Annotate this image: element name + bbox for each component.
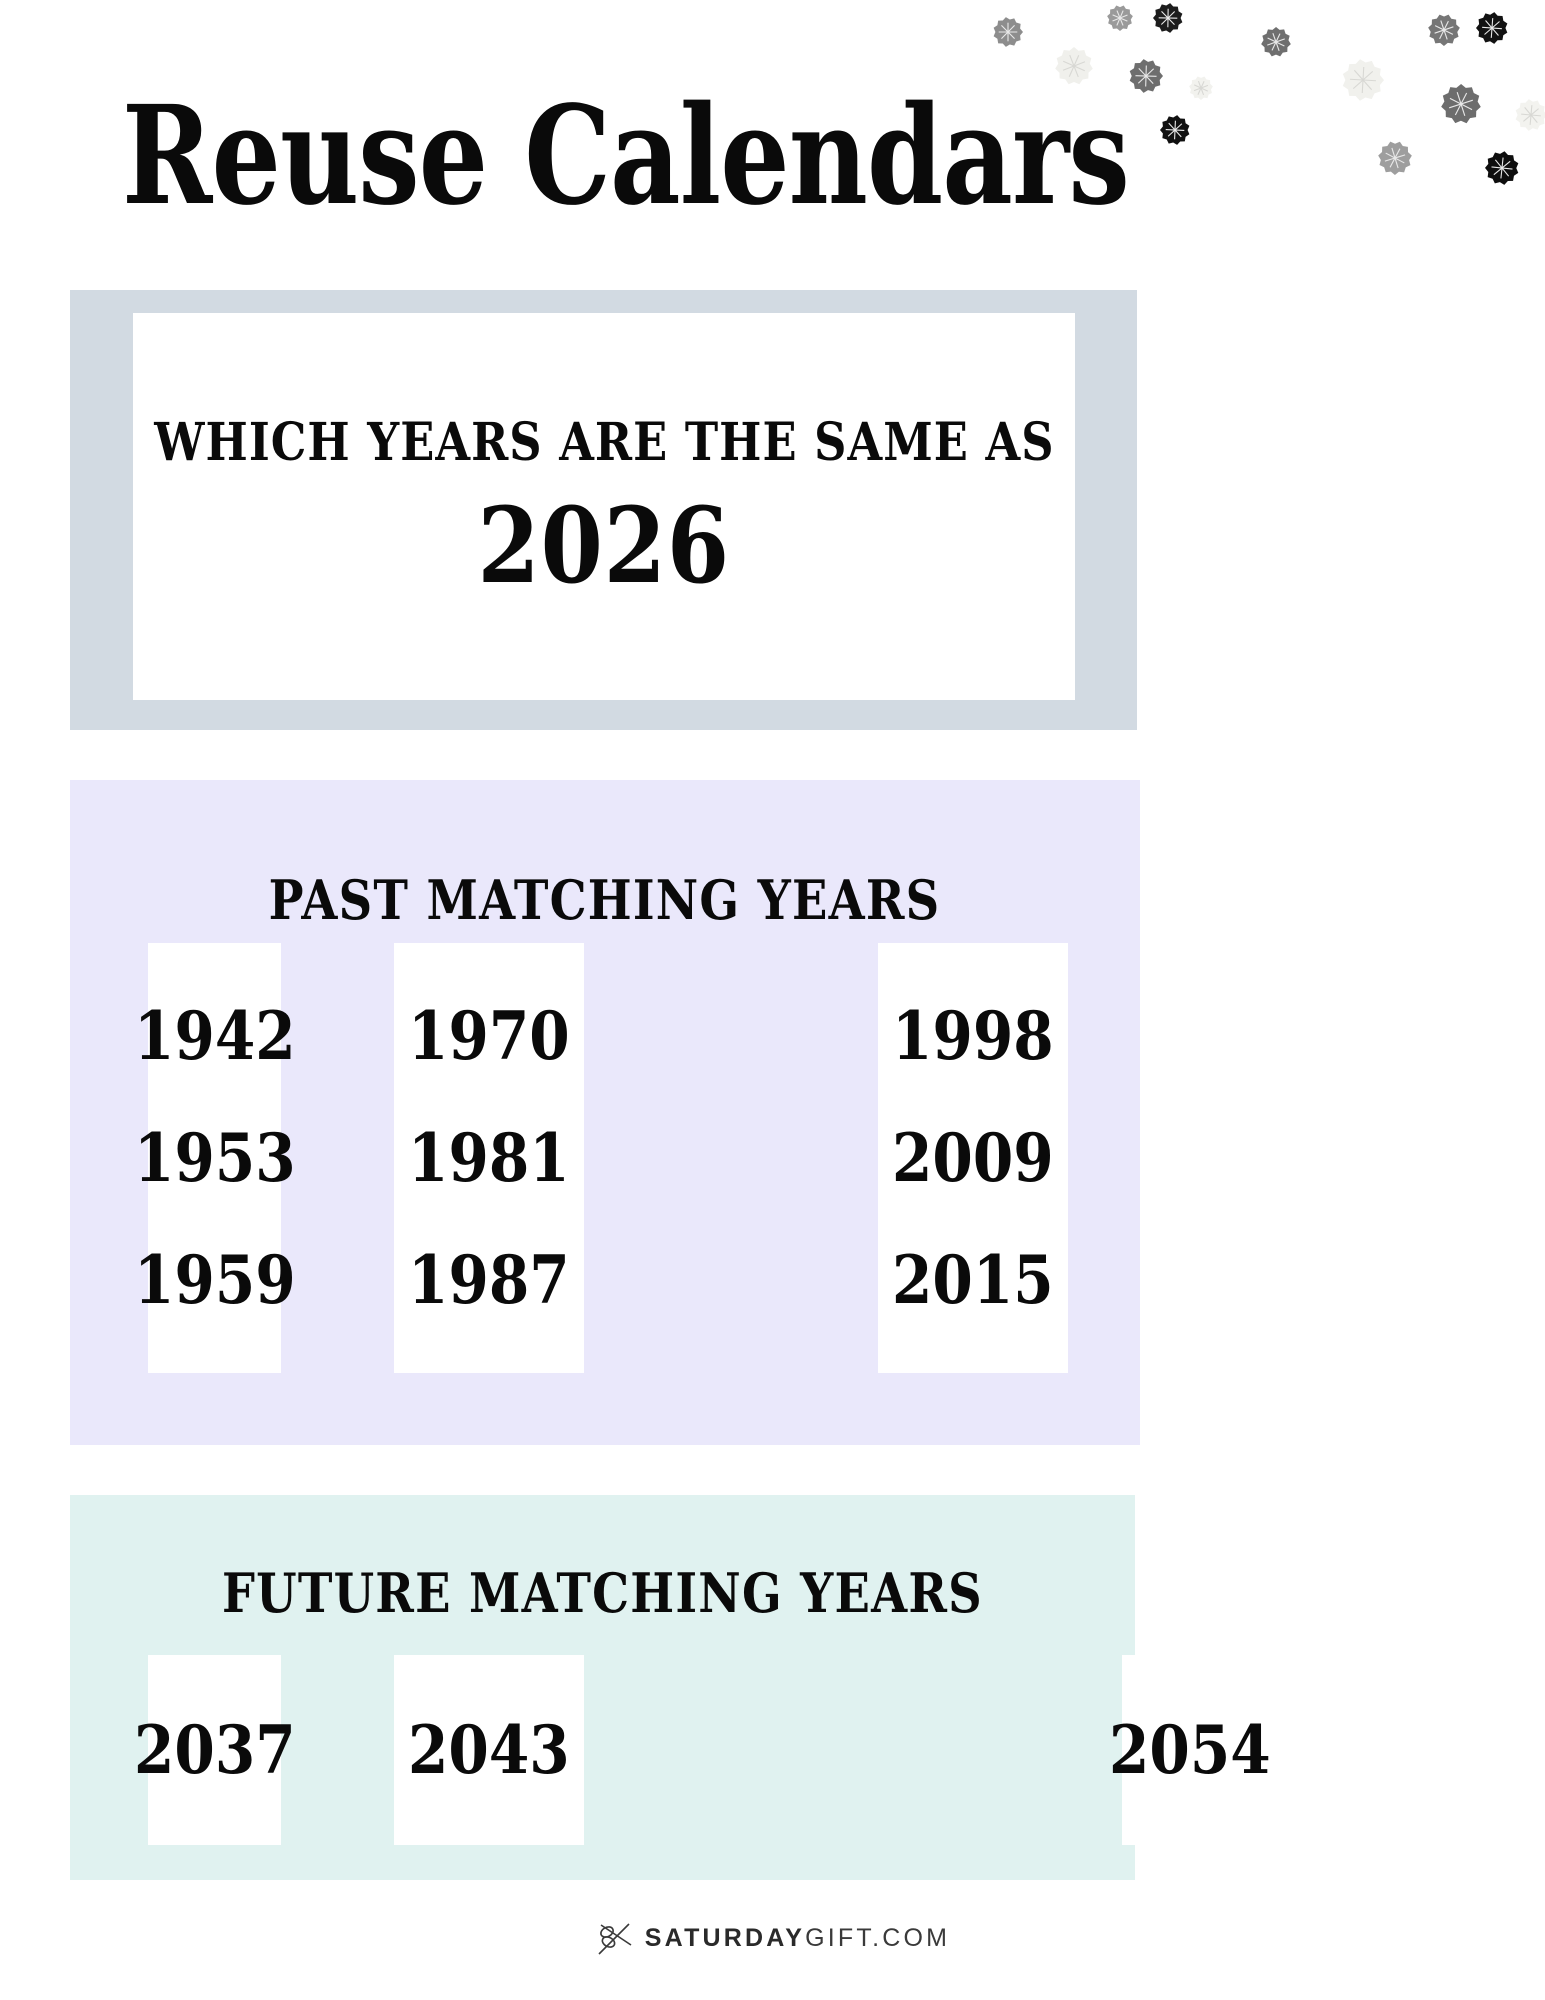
past-year-value: 1987 — [408, 1247, 570, 1313]
scissors-icon — [595, 1918, 635, 1958]
confetti-crinkle — [1146, 65, 1147, 86]
confetti-dot — [1261, 27, 1291, 56]
confetti-dot — [994, 17, 1023, 47]
confetti-crinkle — [1113, 15, 1128, 21]
brand-name: SATURDAYGIFT.COM — [645, 1924, 950, 1953]
confetti-crinkle — [1523, 109, 1538, 122]
past-year-value: 1953 — [134, 1125, 296, 1191]
confetti-crinkle — [1354, 70, 1371, 89]
confetti-crinkle — [1449, 100, 1473, 108]
confetti-dot — [1130, 59, 1163, 93]
page-title: Reuse Calendars — [122, 88, 1098, 224]
confetti-dot — [1107, 6, 1133, 31]
confetti-crinkle — [1525, 107, 1538, 122]
past-matching-years-panel: PAST MATCHING YEARS 1942 1953 1959 1970 … — [70, 780, 1140, 1445]
confetti-dot — [1485, 151, 1518, 185]
future-matching-years-panel: FUTURE MATCHING YEARS 2037 2043 2054 — [70, 1495, 1135, 1880]
confetti-crinkle — [1194, 85, 1208, 90]
confetti-crinkle — [1450, 98, 1472, 109]
confetti-crinkle — [1273, 33, 1279, 51]
confetti-crinkle — [1501, 158, 1503, 179]
confetti-crinkle — [1069, 55, 1079, 77]
confetti-dot — [1160, 115, 1189, 145]
past-section-heading: PAST MATCHING YEARS — [70, 868, 1140, 932]
footer-brand[interactable]: SATURDAYGIFT.COM — [0, 1918, 1545, 1958]
confetti-crinkle — [1386, 153, 1405, 163]
confetti-dot — [1476, 12, 1507, 44]
header-target-year: 2026 — [478, 491, 730, 600]
confetti-crinkle — [1385, 155, 1405, 161]
past-year-value: 2009 — [892, 1125, 1054, 1191]
confetti-crinkle — [1441, 21, 1447, 40]
past-year-value: 2015 — [892, 1247, 1054, 1313]
confetti-crinkle — [1482, 27, 1502, 28]
confetti-crinkle — [1139, 68, 1153, 83]
past-year-column-1: 1942 1953 1959 — [148, 943, 281, 1373]
confetti-crinkle — [1484, 22, 1499, 35]
confetti-dot — [1378, 142, 1412, 175]
past-year-value: 1959 — [134, 1247, 296, 1313]
confetti-crinkle — [1162, 11, 1175, 24]
confetti-crinkle — [1492, 167, 1513, 169]
confetti-crinkle — [1521, 114, 1541, 116]
confetti-crinkle — [1135, 76, 1156, 77]
future-year-value: 2037 — [134, 1717, 296, 1783]
past-section-heading-text: PAST MATCHING YEARS — [269, 868, 941, 932]
confetti-crinkle — [1455, 93, 1466, 115]
future-year-columns: 2037 2043 2054 — [70, 1655, 1135, 1845]
confetti-crinkle — [1457, 92, 1465, 116]
confetti-crinkle — [1001, 25, 1014, 38]
confetti-crinkle — [1175, 121, 1176, 140]
confetti-crinkle — [1113, 15, 1128, 21]
past-year-columns: 1942 1953 1959 1970 1981 1987 1998 2009 … — [70, 943, 1140, 1373]
confetti-dot — [1516, 99, 1545, 131]
confetti-crinkle — [1063, 61, 1085, 71]
confetti-dot — [1441, 84, 1481, 123]
confetti-crinkle — [1272, 34, 1280, 51]
confetti-dot — [1153, 3, 1182, 33]
confetti-dot — [1343, 59, 1384, 101]
header-band: WHICH YEARS ARE THE SAME AS 2026 — [70, 290, 1137, 730]
brand-name-light: GIFT.COM — [805, 1924, 950, 1952]
confetti-crinkle — [1392, 148, 1398, 168]
confetti-crinkle — [1440, 21, 1449, 39]
confetti-crinkle — [1198, 81, 1204, 95]
confetti-dot — [1189, 76, 1213, 100]
confetti-crinkle — [1169, 123, 1182, 137]
confetti-crinkle — [1362, 67, 1364, 93]
future-section-heading: FUTURE MATCHING YEARS — [70, 1561, 1135, 1625]
confetti-crinkle — [1168, 124, 1182, 137]
header-inner-box: WHICH YEARS ARE THE SAME AS 2026 — [133, 313, 1075, 700]
confetti-crinkle — [1491, 18, 1492, 38]
brand-name-bold: SATURDAY — [645, 1924, 805, 1952]
confetti-crinkle — [1268, 38, 1285, 46]
past-year-value: 1981 — [408, 1125, 570, 1191]
confetti-crinkle — [1166, 130, 1185, 131]
past-year-value: 1970 — [408, 1003, 570, 1069]
past-year-value: 1942 — [134, 1003, 296, 1069]
future-year-value: 2043 — [408, 1717, 570, 1783]
confetti-crinkle — [1001, 25, 1014, 38]
confetti-crinkle — [1117, 11, 1123, 26]
confetti-crinkle — [1350, 79, 1376, 81]
header-question: WHICH YEARS ARE THE SAME AS — [154, 412, 1054, 473]
confetti-crinkle — [1486, 20, 1499, 35]
confetti-crinkle — [1435, 27, 1454, 33]
poster-page: Reuse Calendars WHICH YEARS ARE THE SAME… — [0, 0, 1545, 2000]
future-year-column-1: 2037 — [148, 1655, 281, 1845]
confetti-crinkle — [1495, 160, 1508, 176]
past-year-value: 1998 — [892, 1003, 1054, 1069]
confetti-crinkle — [1435, 26, 1453, 35]
confetti-crinkle — [1267, 39, 1285, 45]
confetti-crinkle — [1161, 12, 1174, 25]
future-year-value: 2054 — [1109, 1717, 1271, 1783]
confetti-crinkle — [1390, 149, 1400, 168]
confetti-crinkle — [1494, 161, 1510, 174]
future-section-heading-text: FUTURE MATCHING YEARS — [222, 1561, 983, 1625]
confetti-crinkle — [1063, 62, 1085, 71]
confetti-crinkle — [1070, 55, 1079, 77]
future-year-column-3: 2054 — [1122, 1655, 1257, 1845]
confetti-crinkle — [1353, 71, 1372, 88]
confetti-crinkle — [1194, 85, 1208, 91]
confetti-dot — [1428, 15, 1460, 46]
confetti-crinkle — [1530, 105, 1532, 125]
confetti-crinkle — [1138, 69, 1153, 83]
past-year-column-3: 1998 2009 2015 — [878, 943, 1068, 1373]
confetti-crinkle — [1117, 11, 1123, 26]
future-year-column-2: 2043 — [394, 1655, 584, 1845]
confetti-crinkle — [1198, 81, 1203, 95]
past-year-column-2: 1970 1981 1987 — [394, 943, 584, 1373]
